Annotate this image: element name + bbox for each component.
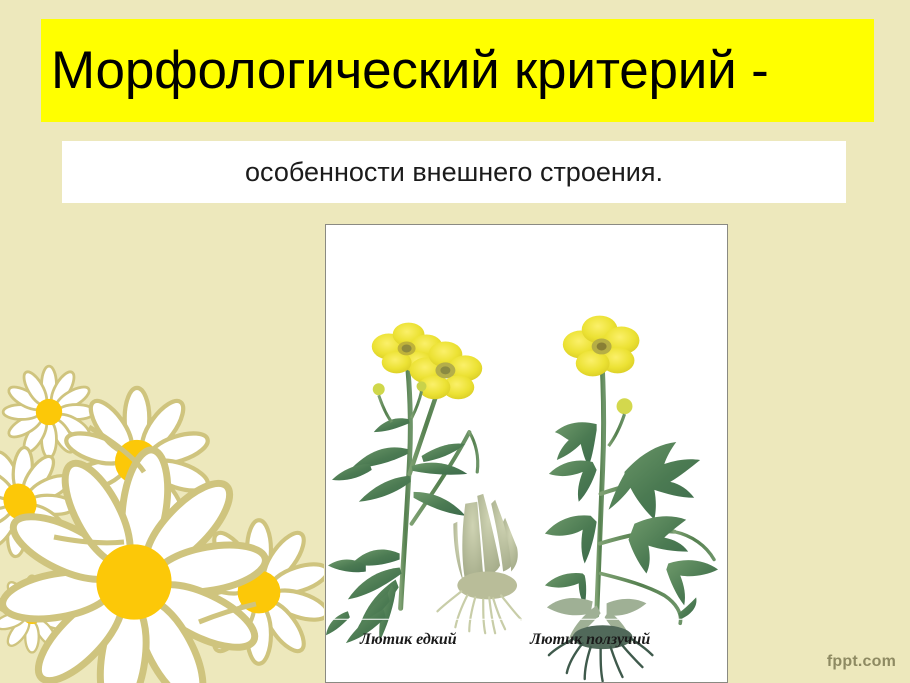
slide-canvas: Морфологический критерий - особенности в…	[0, 0, 910, 683]
daisy-flower	[3, 366, 95, 458]
daisy-flower	[0, 429, 93, 574]
plant-caption-right: Лютик ползучий	[530, 631, 650, 649]
buttercup-illustration-image	[326, 225, 727, 682]
daisy-flower	[0, 447, 269, 683]
daisy-flower	[0, 576, 71, 653]
daisy-flower	[187, 520, 324, 664]
plant-caption-left: Лютик едкий	[360, 631, 457, 649]
daisy-flower	[63, 388, 212, 536]
page-title: Морфологический критерий -	[51, 43, 769, 99]
botanical-illustration-panel: Лютик едкий Лютик ползучий	[325, 224, 728, 683]
subtitle-box: особенности внешнего строения.	[62, 141, 846, 203]
title-banner: Морфологический критерий -	[41, 19, 874, 122]
subtitle-text: особенности внешнего строения.	[245, 157, 663, 188]
watermark-fppt: fppt.com	[827, 653, 896, 671]
daisy-corner-ornament	[0, 352, 324, 683]
